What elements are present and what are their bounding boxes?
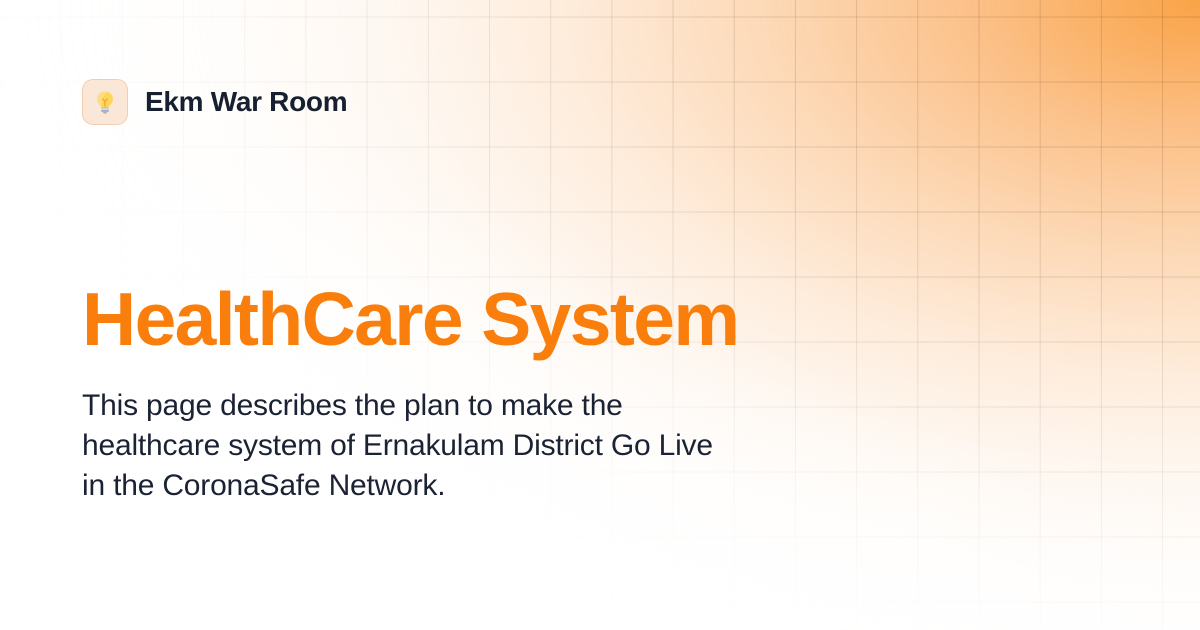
page-description-line: healthcare system of Ernakulam District … — [82, 426, 872, 466]
workspace-title: Ekm War Room — [145, 86, 347, 118]
page-title: HealthCare System — [82, 281, 1120, 358]
page-description-line: in the CoronaSafe Network. — [82, 466, 872, 506]
card-content: Ekm War Room HealthCare System This page… — [0, 0, 1200, 630]
page-description: This page describes the plan to make the… — [82, 386, 872, 506]
hero-block: HealthCare System This page describes th… — [82, 281, 1120, 506]
og-preview-card: Ekm War Room HealthCare System This page… — [0, 0, 1200, 630]
page-description-line: This page describes the plan to make the — [82, 386, 872, 426]
light-bulb-icon — [82, 79, 128, 125]
workspace-header: Ekm War Room — [82, 78, 1120, 126]
